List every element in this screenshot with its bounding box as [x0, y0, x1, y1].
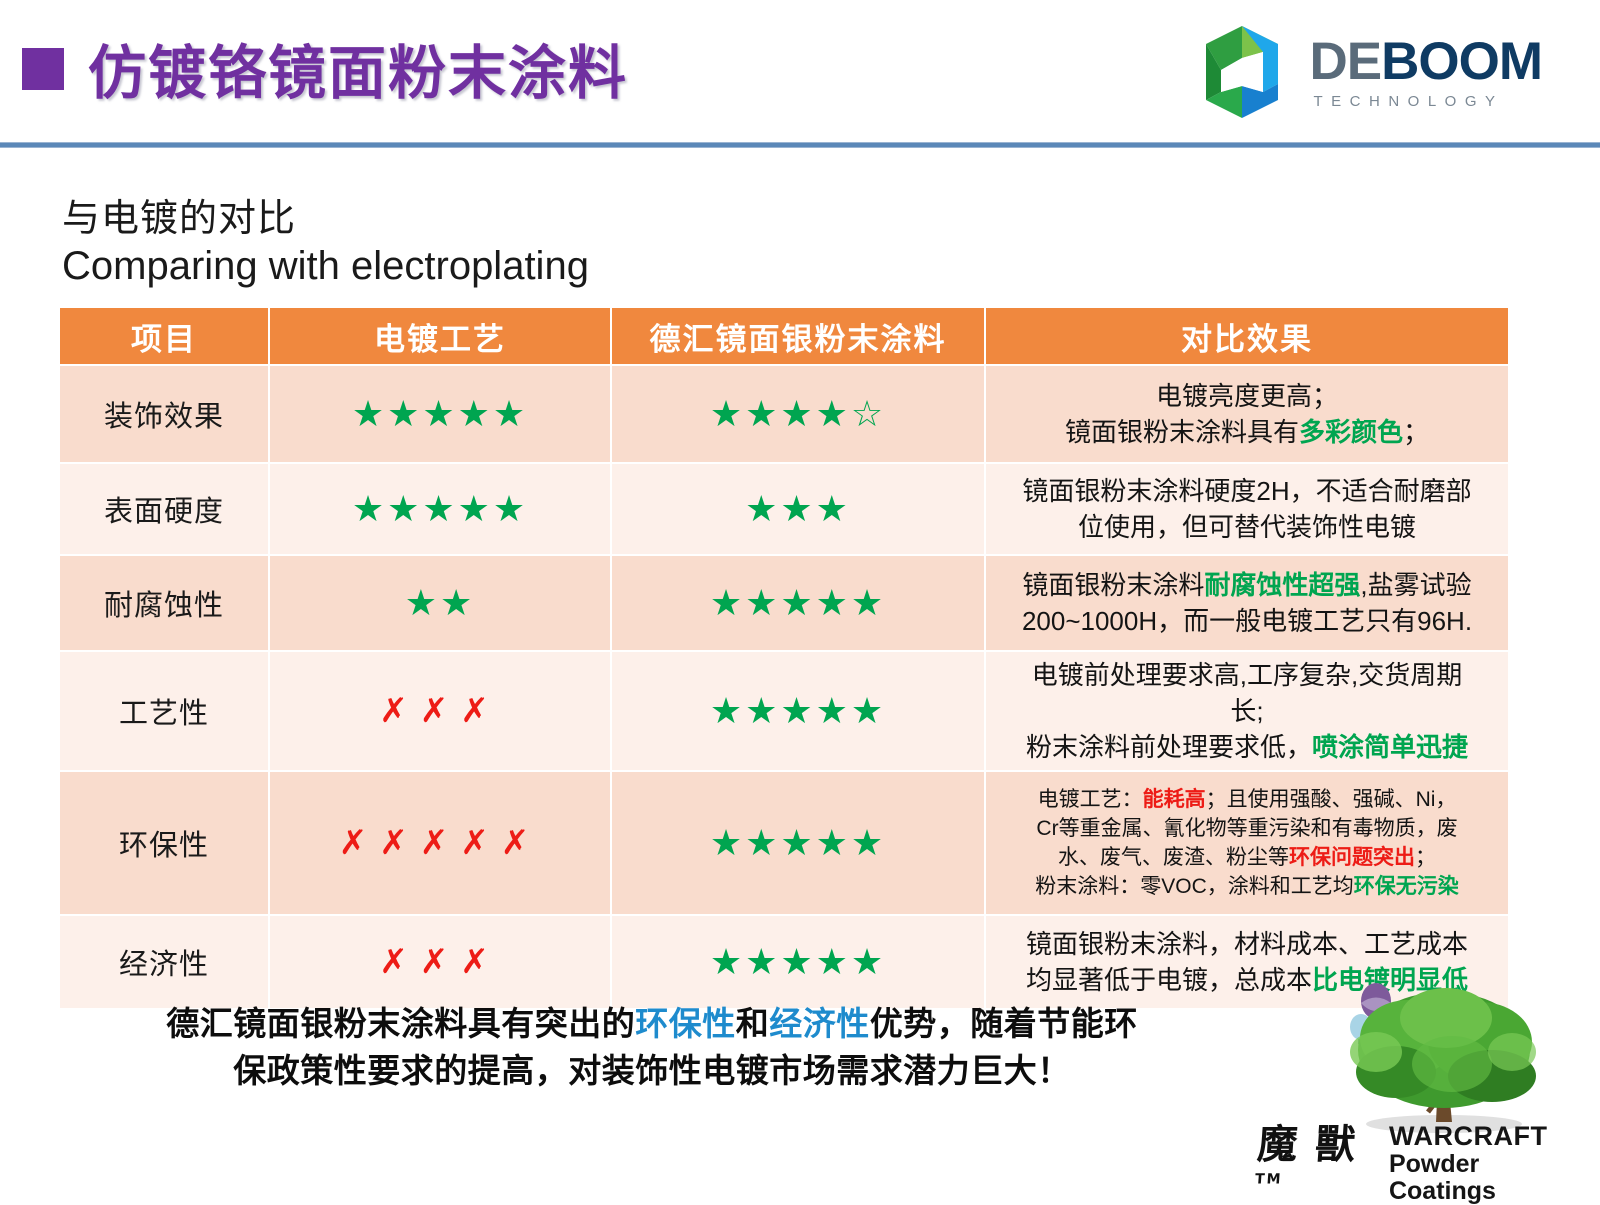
highlight-green: 喷涂简单迅捷: [1312, 732, 1468, 762]
text-segment: 和: [736, 1005, 770, 1042]
text-line-1: 200~1000H，而一般电镀工艺只有96H.: [986, 603, 1508, 639]
table-column-header-3: 对比效果: [986, 308, 1508, 364]
table-row: 耐腐蚀性★★★★★★★镜面银粉末涂料耐腐蚀性超强,盐雾试验200~1000H，而…: [60, 556, 1508, 650]
text-segment: 粉末涂料：零VOC，涂料和工艺均: [1035, 875, 1354, 898]
cell-electroplating-rating: ★★★★★: [270, 464, 610, 554]
text-segment: ；: [1403, 417, 1429, 447]
text-segment: 粉末涂料前处理要求低，: [1026, 732, 1312, 762]
highlight-green: 环保无污染: [1354, 875, 1459, 898]
cell-item: 工艺性: [60, 652, 268, 770]
text-segment: 200~1000H，而一般电镀工艺只有96H.: [1022, 606, 1472, 636]
star-rating: ★★★★★: [612, 585, 984, 621]
table-column-header-1: 电镀工艺: [270, 308, 610, 364]
star-rating: ★★★★★: [270, 396, 610, 432]
star-rating: ★★★: [612, 491, 984, 527]
item-label: 工艺性: [60, 690, 268, 732]
star-rating: ★★★★★: [270, 491, 610, 527]
text-segment: ；且使用强酸、强碱、Ni，: [1206, 788, 1457, 811]
cell-comparison-effect: 电镀亮度更高；镜面银粉末涂料具有多彩颜色；: [986, 366, 1508, 462]
text-segment: 镜面银粉末涂料: [1022, 570, 1204, 600]
warcraft-en-name: WARCRAFT Powder Coatings: [1389, 1122, 1586, 1205]
text-line-1: 长;: [986, 693, 1508, 729]
text-line-1: 位使用，但可替代装饰性电镀: [986, 509, 1508, 545]
deboom-gem-icon: [1190, 22, 1295, 122]
cell-powder-rating: ★★★★★: [612, 652, 984, 770]
text-segment: ；: [1415, 846, 1436, 869]
text-line-0: 电镀工艺：能耗高；且使用强酸、强碱、Ni，: [986, 785, 1508, 814]
cell-item: 表面硬度: [60, 464, 268, 554]
warcraft-logo-text: 魔 獸TM WARCRAFT Powder Coatings: [1256, 1122, 1586, 1205]
comparison-table: 项目电镀工艺德汇镜面银粉末涂料对比效果 装饰效果★★★★★★★★★☆电镀亮度更高…: [58, 306, 1510, 1010]
highlight-blue: 环保性: [635, 1005, 736, 1042]
text-line-0: 镜面银粉末涂料，材料成本、工艺成本: [986, 926, 1508, 962]
table-row: 装饰效果★★★★★★★★★☆电镀亮度更高；镜面银粉末涂料具有多彩颜色；: [60, 366, 1508, 462]
cell-electroplating-rating: ✗✗✗✗✗: [270, 772, 610, 914]
highlight-green: 多彩颜色: [1299, 417, 1403, 447]
text-segment: 位使用，但可替代装饰性电镀: [1078, 512, 1416, 542]
cell-item: 经济性: [60, 916, 268, 1008]
text-line-2: 水、废气、废渣、粉尘等环保问题突出；: [986, 843, 1508, 872]
text-segment: 电镀亮度更高；: [1156, 381, 1338, 411]
cell-electroplating-rating: ✗✗✗: [270, 652, 610, 770]
x-mark-rating: ✗✗✗✗✗: [270, 826, 610, 860]
cell-electroplating-rating: ★★: [270, 556, 610, 650]
text-line-1: 镜面银粉末涂料具有多彩颜色；: [986, 414, 1508, 450]
deboom-logo-text: DEBOOM TECHNOLOGY: [1309, 35, 1542, 109]
text-segment: 长;: [1230, 696, 1263, 726]
section-heading-cn: 与电镀的对比: [62, 196, 589, 242]
text-segment: 电镀前处理要求高,工序复杂,交货周期: [1032, 660, 1462, 690]
warcraft-en-line1: WARCRAFT: [1389, 1122, 1586, 1151]
star-rating: ★★★★★: [612, 693, 984, 729]
trademark-icon: TM: [1254, 1172, 1283, 1188]
star-rating: ★★★★★: [612, 944, 984, 980]
cell-powder-rating: ★★★★☆: [612, 366, 984, 462]
item-label: 环保性: [60, 822, 268, 864]
cell-powder-rating: ★★★★★: [612, 916, 984, 1008]
highlight-red: 环保问题突出: [1289, 846, 1415, 869]
text-line-0: 电镀亮度更高；: [986, 378, 1508, 414]
table-row: 工艺性✗✗✗★★★★★电镀前处理要求高,工序复杂,交货周期长;粉末涂料前处理要求…: [60, 652, 1508, 770]
cell-item: 耐腐蚀性: [60, 556, 268, 650]
warcraft-logo: 魔 獸TM WARCRAFT Powder Coatings: [1256, 972, 1586, 1194]
section-heading-en: Comparing with electroplating: [62, 242, 589, 290]
text-line-0: 德汇镜面银粉末涂料具有突出的环保性和经济性优势，随着节能环: [62, 1000, 1242, 1047]
cell-item: 环保性: [60, 772, 268, 914]
deboom-wordmark: DEBOOM: [1309, 35, 1542, 88]
text-line-2: 粉末涂料前处理要求低，喷涂简单迅捷: [986, 729, 1508, 765]
warcraft-en-line2: Powder Coatings: [1389, 1151, 1586, 1205]
table-column-header-0: 项目: [60, 308, 268, 364]
cell-powder-rating: ★★★★★: [612, 772, 984, 914]
star-rating: ★★★★☆: [612, 396, 984, 432]
cell-comparison-effect: 镜面银粉末涂料耐腐蚀性超强,盐雾试验200~1000H，而一般电镀工艺只有96H…: [986, 556, 1508, 650]
text-segment: Cr等重金属、氰化物等重污染和有毒物质，废: [1036, 817, 1457, 840]
x-mark-rating: ✗✗✗: [270, 945, 610, 979]
tree-with-balloons-icon: [1256, 972, 1586, 1140]
text-segment: 水、废气、废渣、粉尘等: [1058, 846, 1289, 869]
text-segment: 镜面银粉末涂料硬度2H，不适合耐磨部: [1022, 476, 1471, 506]
item-label: 经济性: [60, 941, 268, 983]
deboom-logo: DEBOOM TECHNOLOGY: [1190, 22, 1542, 122]
cell-item: 装饰效果: [60, 366, 268, 462]
highlight-blue: 经济性: [769, 1005, 870, 1042]
cell-comparison-effect: 电镀前处理要求高,工序复杂,交货周期长;粉末涂料前处理要求低，喷涂简单迅捷: [986, 652, 1508, 770]
text-line-0: 电镀前处理要求高,工序复杂,交货周期: [986, 657, 1508, 693]
section-heading: 与电镀的对比 Comparing with electroplating: [62, 196, 589, 290]
conclusion-text: 德汇镜面银粉末涂料具有突出的环保性和经济性优势，随着节能环保政策性要求的提高，对…: [62, 1000, 1242, 1094]
table-row: 表面硬度★★★★★★★★镜面银粉末涂料硬度2H，不适合耐磨部位使用，但可替代装饰…: [60, 464, 1508, 554]
warcraft-cn-chars: 魔 獸: [1256, 1122, 1359, 1168]
item-label: 表面硬度: [60, 488, 268, 530]
cell-electroplating-rating: ★★★★★: [270, 366, 610, 462]
table-row: 环保性✗✗✗✗✗★★★★★电镀工艺：能耗高；且使用强酸、强碱、Ni，Cr等重金属…: [60, 772, 1508, 914]
item-label: 装饰效果: [60, 393, 268, 435]
cell-electroplating-rating: ✗✗✗: [270, 916, 610, 1008]
warcraft-cn-name: 魔 獸TM: [1253, 1125, 1382, 1205]
text-segment: 镜面银粉末涂料，材料成本、工艺成本: [1026, 929, 1468, 959]
cell-powder-rating: ★★★: [612, 464, 984, 554]
header-divider: [0, 142, 1600, 148]
text-segment: ,盐雾试验: [1360, 570, 1471, 600]
text-line-1: Cr等重金属、氰化物等重污染和有毒物质，废: [986, 814, 1508, 843]
text-segment: 优势，随着节能环: [870, 1005, 1138, 1042]
cell-powder-rating: ★★★★★: [612, 556, 984, 650]
x-mark-rating: ✗✗✗: [270, 694, 610, 728]
star-rating: ★★: [270, 585, 610, 621]
text-segment: 电镀工艺：: [1038, 788, 1143, 811]
page-title: 仿镀铬镜面粉末涂料: [88, 26, 628, 110]
cell-comparison-effect: 电镀工艺：能耗高；且使用强酸、强碱、Ni，Cr等重金属、氰化物等重污染和有毒物质…: [986, 772, 1508, 914]
text-segment: 德汇镜面银粉末涂料具有突出的: [166, 1005, 635, 1042]
highlight-red: 能耗高: [1143, 788, 1206, 811]
highlight-green: 耐腐蚀性超强: [1204, 570, 1360, 600]
deboom-tagline: TECHNOLOGY: [1313, 94, 1542, 109]
square-bullet-icon: [22, 48, 64, 90]
slide-header: 仿镀铬镜面粉末涂料 DEBOOM TECHNOLOGY: [0, 0, 1600, 145]
deboom-word-de: DE: [1309, 32, 1381, 91]
cell-comparison-effect: 镜面银粉末涂料硬度2H，不适合耐磨部位使用，但可替代装饰性电镀: [986, 464, 1508, 554]
item-label: 耐腐蚀性: [60, 582, 268, 624]
text-line-0: 镜面银粉末涂料耐腐蚀性超强,盐雾试验: [986, 567, 1508, 603]
text-line-3: 粉末涂料：零VOC，涂料和工艺均环保无污染: [986, 872, 1508, 901]
deboom-word-boom: BOOM: [1381, 32, 1542, 91]
text-segment: 镜面银粉末涂料具有: [1065, 417, 1299, 447]
star-rating: ★★★★★: [612, 825, 984, 861]
table-column-header-2: 德汇镜面银粉末涂料: [612, 308, 984, 364]
text-segment: 保政策性要求的提高，对装饰性电镀市场需求潜力巨大！: [233, 1052, 1071, 1089]
text-line-1: 保政策性要求的提高，对装饰性电镀市场需求潜力巨大！: [62, 1047, 1242, 1094]
text-line-0: 镜面银粉末涂料硬度2H，不适合耐磨部: [986, 473, 1508, 509]
table-header-row: 项目电镀工艺德汇镜面银粉末涂料对比效果: [60, 308, 1508, 364]
